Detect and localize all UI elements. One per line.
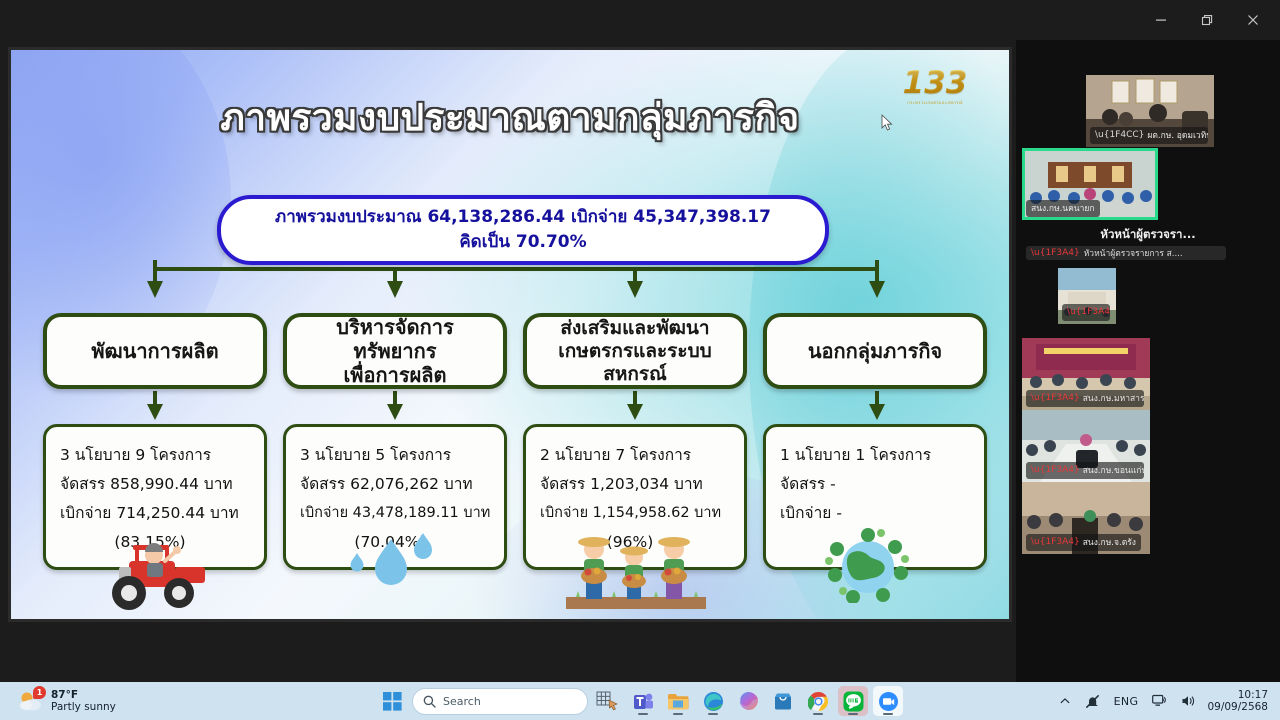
category-label-3: นอกกลุ่มภารกิจ (808, 339, 942, 363)
budget-summary-line-1: ภาพรวมงบประมาณ 64,138,286.44 เบิกจ่าย 45… (275, 205, 771, 230)
google-chrome-icon[interactable] (803, 686, 833, 716)
video-label-text-3: สนง.กษ.มหาสารคาม (1083, 391, 1144, 405)
clock-date: 09/09/2568 (1207, 701, 1268, 713)
close-button[interactable] (1230, 4, 1276, 36)
microsoft-edge-icon[interactable] (698, 686, 728, 716)
budget-summary-text: ภาพรวมงบประมาณ 64,138,286.44 เบิกจ่าย 45… (275, 205, 771, 255)
video-tile-0[interactable]: \u{1F4CC} ผต.กษ. อุดมเวทิน (1086, 75, 1214, 147)
video-label-1: สนง.กษ.นคนายก (1026, 200, 1100, 217)
network-button[interactable] (1149, 694, 1170, 708)
participant-row-label: หัวหน้าผู้ตรวจรายการ ส.... (1084, 246, 1183, 260)
category-label-0: พัฒนาการผลิต (91, 339, 218, 363)
weather-widget[interactable]: 1 87°F Partly sunny (10, 682, 124, 720)
microphone-muted-icon: \u{1F3A4} (1031, 394, 1080, 403)
video-label-0: \u{1F4CC} ผต.กษ. อุดมเวทิน (1090, 127, 1208, 144)
detail-allocated-3: จัดสรร - (780, 470, 974, 499)
weather-temperature: 87°F (51, 689, 116, 701)
minimize-button[interactable] (1138, 4, 1184, 36)
category-label-2: ส่งเสริมและพัฒนา เกษตรกรและระบบ สหกรณ์ (558, 317, 711, 386)
tractor-farmer-illustration (99, 531, 229, 613)
restore-button[interactable] (1184, 4, 1230, 36)
detail-projects-1: 3 นโยบาย 5 โครงการ (300, 441, 494, 470)
clock-time: 10:17 (1207, 689, 1268, 701)
copilot-icon[interactable] (733, 686, 763, 716)
category-box-0: พัฒนาการผลิต (43, 313, 267, 389)
system-tray: ENG 10:17 09/09/2568 (1056, 682, 1274, 720)
detail-disbursed-3: เบิกจ่าย - (780, 499, 974, 528)
video-label-3: \u{1F3A4} สนง.กษ.มหาสารคาม (1026, 390, 1144, 407)
video-label-5: \u{1F3A4} สนง.กษ.จ.ตรัง (1026, 534, 1141, 551)
file-explorer-icon[interactable] (663, 686, 693, 716)
microsoft-teams-icon[interactable] (628, 686, 658, 716)
network-icon (1152, 694, 1167, 708)
video-tile-5[interactable]: \u{1F3A4} สนง.กษ.จ.ตรัง (1022, 482, 1150, 554)
microphone-muted-icon: \u{1F3A4} (1067, 308, 1110, 317)
page-title: ภาพรวมงบประมาณตามกลุ่มภารกิจ (11, 88, 1009, 147)
category-box-2: ส่งเสริมและพัฒนา เกษตรกรและระบบ สหกรณ์ (523, 313, 747, 389)
farmers-with-baskets-illustration (566, 531, 706, 611)
clock-widget[interactable]: 10:17 09/09/2568 (1207, 689, 1274, 713)
detail-disbursed-0: เบิกจ่าย 714,250.44 บาท (60, 499, 254, 528)
taskbar-icons: Search (377, 682, 903, 720)
search-placeholder: Search (443, 695, 481, 708)
green-globe-illustration (823, 525, 913, 603)
microphone-muted-icon: \u{1F3A4} (1031, 249, 1080, 258)
chevron-up-icon (1059, 695, 1071, 707)
video-tile-4[interactable]: \u{1F3A4} สนง.กษ.ขอนแก่น (1022, 410, 1150, 482)
video-label-4: \u{1F3A4} สนง.กษ.ขอนแก่น (1026, 462, 1144, 479)
do-not-disturb-icon (1085, 694, 1100, 709)
detail-allocated-1: จัดสรร 62,076,262 บาท (300, 470, 494, 499)
budget-summary-line-2: คิดเป็น 70.70% (275, 230, 771, 255)
zoom-app-icon[interactable] (873, 686, 903, 716)
category-box-3: นอกกลุ่มภารกิจ (763, 313, 987, 389)
presentation-app-window: 133 กระทรวงเกษตรและสหกรณ์ ภาพรวมงบประมาณ… (0, 0, 1280, 682)
anniversary-caption: กระทรวงเกษตรและสหกรณ์ (897, 100, 973, 106)
category-label-1: บริหารจัดการทรัพยากร เพื่อการผลิต (295, 315, 495, 387)
partly-sunny-icon: 1 (18, 689, 44, 713)
video-label-2: \u{1F3A4} สนง.ปล.จ.เลย (1062, 304, 1110, 321)
pin-icon: \u{1F4CC} (1095, 131, 1144, 140)
do-not-disturb-button[interactable] (1082, 694, 1103, 709)
detail-projects-0: 3 นโยบาย 9 โครงการ (60, 441, 254, 470)
screen-root: 133 กระทรวงเกษตรและสหกรณ์ ภาพรวมงบประมาณ… (0, 0, 1280, 720)
video-conference-panel: \u{1F4CC} ผต.กษ. อุดมเวทิน (1016, 40, 1280, 682)
microsoft-store-icon[interactable] (768, 686, 798, 716)
video-label-text-5: สนง.กษ.จ.ตรัง (1083, 535, 1136, 549)
search-input[interactable]: Search (412, 688, 588, 715)
detail-projects-3: 1 นโยบาย 1 โครงการ (780, 441, 974, 470)
section-title: หัวหน้าผู้ตรวจรา... (1016, 226, 1280, 244)
show-hidden-icons-button[interactable] (1056, 695, 1074, 707)
windows-taskbar: 1 87°F Partly sunny (0, 682, 1280, 720)
video-label-text-1: สนง.กษ.นคนายก (1031, 201, 1095, 215)
weather-condition: Partly sunny (51, 701, 116, 713)
presentation-slide: 133 กระทรวงเกษตรและสหกรณ์ ภาพรวมงบประมาณ… (11, 50, 1009, 619)
weather-text: 87°F Partly sunny (51, 689, 116, 713)
window-titlebar (0, 0, 1280, 40)
detail-allocated-0: จัดสรร 858,990.44 บาท (60, 470, 254, 499)
detail-projects-2: 2 นโยบาย 7 โครงการ (540, 441, 734, 470)
search-icon (423, 695, 436, 708)
video-label-text-4: สนง.กษ.ขอนแก่น (1083, 463, 1144, 477)
participant-row[interactable]: \u{1F3A4} หัวหน้าผู้ตรวจรายการ ส.... (1026, 246, 1226, 260)
video-tile-1[interactable]: สนง.กษ.นคนายก (1022, 148, 1158, 220)
video-tile-2[interactable]: \u{1F3A4} สนง.ปล.จ.เลย (1058, 268, 1116, 324)
detail-disbursed-1: เบิกจ่าย 43,478,189.11 บาท (300, 499, 494, 528)
window-controls (1138, 0, 1276, 40)
video-tile-3[interactable]: \u{1F3A4} สนง.กษ.มหาสารคาม (1022, 338, 1150, 410)
language-indicator[interactable]: ENG (1111, 695, 1142, 708)
anniversary-logo: 133 กระทรวงเกษตรและสหกรณ์ (897, 66, 973, 128)
detail-allocated-2: จัดสรร 1,203,034 บาท (540, 470, 734, 499)
detail-disbursed-2: เบิกจ่าย 1,154,958.62 บาท (540, 499, 734, 528)
slide-viewport: 133 กระทรวงเกษตรและสหกรณ์ ภาพรวมงบประมาณ… (8, 47, 1012, 622)
volume-icon (1181, 694, 1196, 708)
task-view-icon[interactable] (593, 686, 623, 716)
microphone-muted-icon: \u{1F3A4} (1031, 466, 1080, 475)
budget-summary-box: ภาพรวมงบประมาณ 64,138,286.44 เบิกจ่าย 45… (217, 195, 829, 265)
anniversary-number: 133 (897, 66, 973, 100)
start-button[interactable] (377, 686, 407, 716)
microphone-muted-icon: \u{1F3A4} (1031, 538, 1080, 547)
volume-button[interactable] (1178, 694, 1199, 708)
mouse-cursor (881, 114, 893, 132)
line-app-icon[interactable] (838, 686, 868, 716)
category-box-1: บริหารจัดการทรัพยากร เพื่อการผลิต (283, 313, 507, 389)
notification-badge: 1 (33, 686, 46, 699)
video-label-text-0: ผต.กษ. อุดมเวทิน (1147, 128, 1208, 142)
water-droplets-illustration (341, 531, 441, 597)
